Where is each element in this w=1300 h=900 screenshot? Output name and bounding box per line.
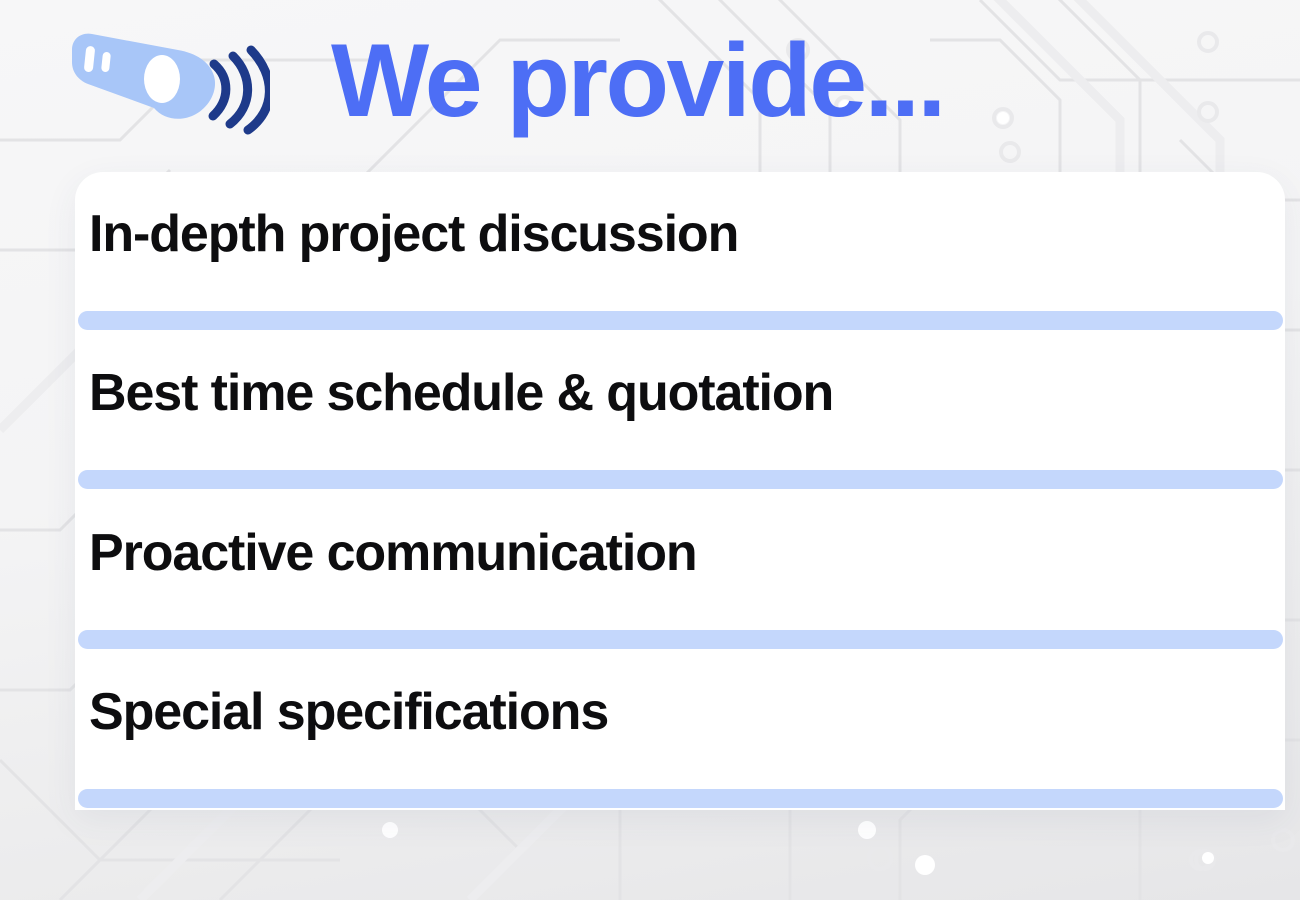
list-item-divider xyxy=(78,470,1283,489)
list-item[interactable]: In-depth project discussion xyxy=(75,172,1285,332)
list-item[interactable]: Best time schedule & quotation xyxy=(75,332,1285,492)
header: We provide... xyxy=(0,0,1300,172)
list-item[interactable]: Proactive communication xyxy=(75,491,1285,651)
megaphone-icon xyxy=(58,28,270,140)
page-title: We provide... xyxy=(331,16,944,146)
list-item-label: Best time schedule & quotation xyxy=(89,332,833,455)
list-item-label: Special specifications xyxy=(89,651,608,774)
list-item-divider xyxy=(78,311,1283,330)
list-item-label: Proactive communication xyxy=(89,491,697,614)
list-item[interactable]: Special specifications xyxy=(75,651,1285,811)
list-item-divider xyxy=(78,789,1283,808)
provide-list-card: In-depth project discussion Best time sc… xyxy=(75,172,1285,810)
list-item-divider xyxy=(78,630,1283,649)
list-item-label: In-depth project discussion xyxy=(89,172,738,295)
